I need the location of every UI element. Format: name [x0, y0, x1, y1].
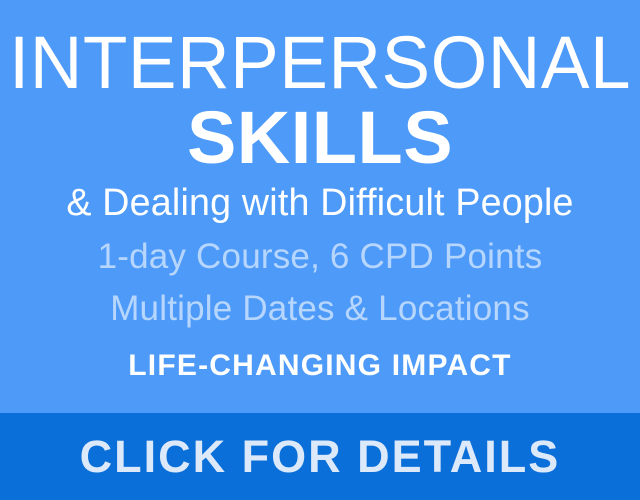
cta-label: CLICK FOR DETAILS [80, 434, 561, 479]
headline-secondary: SKILLS [0, 102, 640, 174]
headline-primary: INTERPERSONAL [5, 26, 635, 100]
banner-subtitle: & Dealing with Difficult People [3, 180, 637, 226]
cta-button[interactable]: CLICK FOR DETAILS [0, 413, 640, 500]
banner-message-area: INTERPERSONAL SKILLS & Dealing with Diff… [0, 0, 640, 413]
advertisement-banner[interactable]: INTERPERSONAL SKILLS & Dealing with Diff… [0, 0, 640, 500]
detail-course-duration: 1-day Course, 6 CPD Points [0, 234, 640, 278]
banner-tagline: LIFE-CHANGING IMPACT [0, 346, 640, 386]
detail-dates-locations: Multiple Dates & Locations [0, 286, 640, 330]
